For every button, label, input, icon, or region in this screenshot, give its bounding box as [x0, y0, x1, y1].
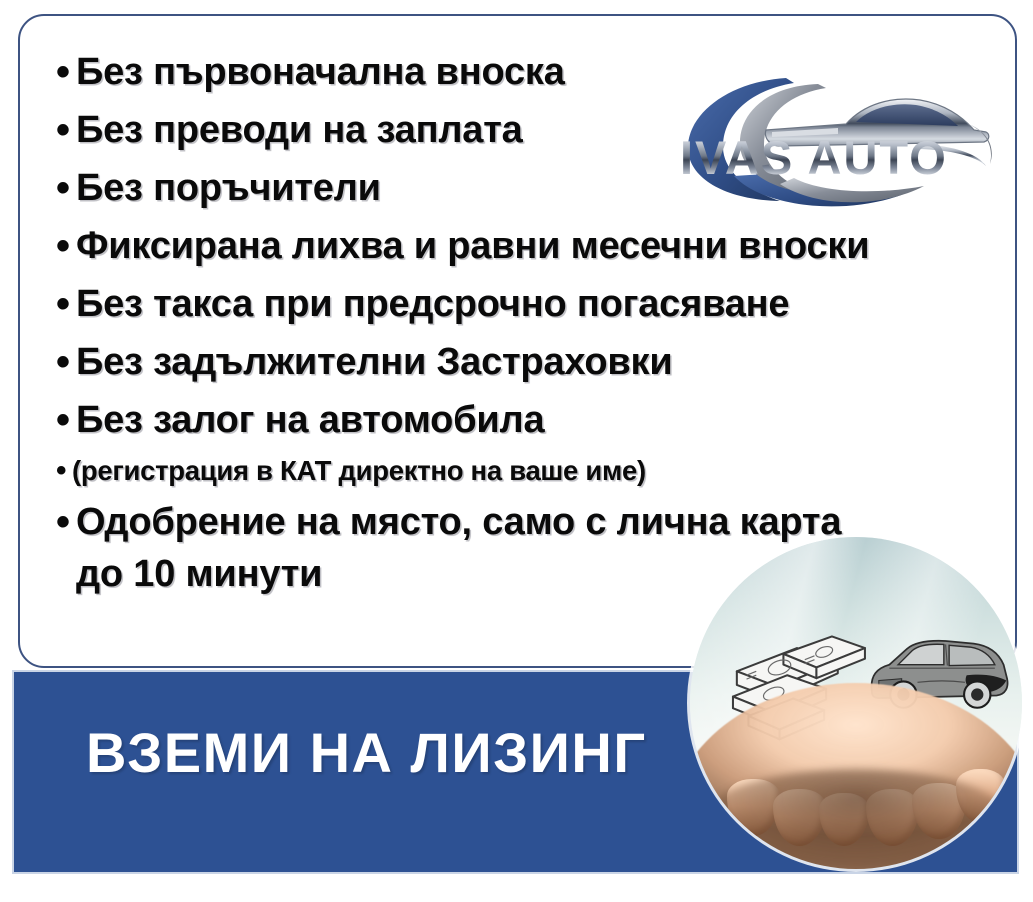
list-item: • Без такса при предсрочно погасяване — [56, 278, 1016, 330]
palm-shadow — [703, 769, 1008, 869]
logo-wordmark: IVAS AUTO — [680, 134, 990, 182]
list-item-note: • (регистрация в КАТ директно на ваше им… — [56, 448, 1016, 494]
bullet-dot-icon: • — [56, 104, 76, 156]
bullet-dot-icon: • — [56, 220, 76, 272]
list-item-label: Фиксирана лихва и равни месечни вноски — [76, 220, 1016, 272]
list-item: • Без задължителни Застраховки — [56, 336, 1016, 388]
list-item-label: Без задължителни Застраховки — [76, 336, 1016, 388]
list-item-label: Без такса при предсрочно погасяване — [76, 278, 1016, 330]
bullet-dot-icon: • — [56, 394, 76, 446]
list-item-label: Без залог на автомобила — [76, 394, 1016, 446]
bullet-dot-icon: • — [56, 336, 76, 388]
ivas-auto-logo: IVAS AUTO — [668, 58, 998, 208]
bullet-dot-icon: • — [56, 448, 72, 494]
cta-banner-headline: ВЗЕМИ НА ЛИЗИНГ — [86, 722, 647, 784]
hands-holding-money-and-car-photo — [690, 537, 1022, 869]
list-item: • Фиксирана лихва и равни месечни вноски — [56, 220, 1016, 272]
bullet-dot-icon: • — [56, 162, 76, 214]
bullet-dot-icon: • — [56, 278, 76, 330]
bullet-dot-icon: • — [56, 46, 76, 98]
bullet-dot-icon: • — [56, 496, 76, 548]
leasing-advertisement-poster: • Без първоначална вноска • Без преводи … — [0, 0, 1033, 902]
list-item: • Без залог на автомобила — [56, 394, 1016, 446]
list-item-note-label: (регистрация в КАТ директно на ваше име) — [72, 448, 1016, 494]
